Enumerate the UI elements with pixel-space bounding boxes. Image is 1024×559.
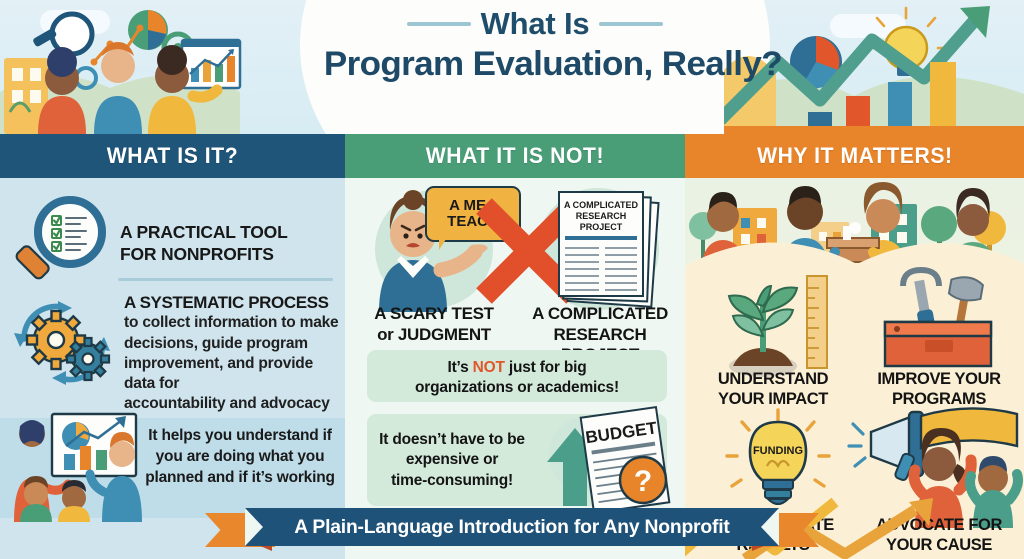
speech-bubble-tail [439,236,457,250]
systematic-process-heading: A SYSTEMATIC PROCESS [124,293,342,313]
box1-post: just for big [505,359,587,376]
scary-test-line1: A SCARY TEST [349,304,519,325]
systematic-body-line1: to collect information to make [124,313,342,333]
left-band-text: It helps you understand if you are doing… [140,426,340,489]
magnifier-checklist-icon [8,192,112,296]
presentation-board-icon [182,40,240,88]
box1-pre: It’s [447,359,472,376]
column-header-why-it-matters: WHY IT MATTERS! [685,134,1024,178]
understand-impact-line1: UNDERSTAND [691,370,855,390]
box1-highlight: NOT [473,359,505,376]
header-banner: What Is Program Evaluation, Really? [0,0,1024,134]
column-header-what-it-is-not: WHAT IT IS NOT! [345,134,685,178]
paper-title-line2: RESEARCH [576,211,627,221]
complicated-research-line1: A COMPLICATED [517,304,683,325]
understand-impact-line2: YOUR IMPACT [691,390,855,410]
budget-question-icon: BUDGET ? [535,406,675,514]
infographic-root: What Is Program Evaluation, Really? WHAT… [0,0,1024,559]
box2-line3: time-consuming! [367,471,537,491]
ribbon-band: A Plain-Language Introduction for Any No… [245,508,779,546]
caption-scary-test: A SCARY TEST or JUDGMENT [349,304,519,345]
bulb-label: FUNDING [753,445,803,457]
left-column-divider [118,278,333,281]
not-for-big-orgs-text: It’s NOT just for big organizations or a… [367,358,667,399]
box1-line2: organizations or academics! [367,378,667,398]
research-papers-icon: A COMPLICATED RESEARCH PROJECT [543,184,671,310]
title-line-1: What Is [481,8,590,39]
gears-cycle-icon [6,293,118,397]
caption-understand-impact: UNDERSTAND YOUR IMPACT [691,370,855,410]
gear-small [67,338,109,380]
box2-line1: It doesn’t have to be [367,430,537,450]
systematic-body-line2: decisions, guide program [124,334,342,354]
column-header-label: WHAT IS IT? [107,143,238,169]
header-left-illustration [0,0,320,134]
ribbon-text: A Plain-Language Introduction for Any No… [294,516,729,539]
column-header-label: WHY IT MATTERS! [757,143,953,169]
practical-tool-line1: A PRACTICAL TOOL [120,222,288,244]
header-title: What Is Program Evaluation, Really? [330,8,740,84]
improve-programs-line1: IMPROVE YOUR [857,370,1021,390]
title-rule-left [407,22,471,26]
left-item-practical-tool-text: A PRACTICAL TOOL FOR NONPROFITS [120,222,288,266]
bottom-ribbon: A Plain-Language Introduction for Any No… [0,500,1024,559]
band-line3: planned and if it’s working [140,468,340,489]
paper-title-line3: PROJECT [580,222,623,232]
not-expensive-text: It doesn’t have to be expensive or time-… [367,430,537,491]
systematic-process-body: to collect information to make decisions… [124,313,342,414]
systematic-body-line3: improvement, and provide data for [124,354,342,394]
column-header-what-is-it: WHAT IS IT? [0,134,345,178]
column-header-label: WHAT IT IS NOT! [426,143,604,169]
seedling-ruler-icon [711,262,841,378]
title-line-2: Program Evaluation, Really? [324,45,746,84]
band-line2: you are doing what you [140,447,340,468]
column-header-bars: WHAT IS IT? WHAT IT IS NOT! WHY IT MATTE… [0,134,1024,178]
toolbox-icon [867,262,1009,378]
left-item-systematic-process: A SYSTEMATIC PROCESS to collect informat… [6,293,342,414]
box1-line1: It’s NOT just for big [367,358,667,378]
title-rule-right [599,22,663,26]
practical-tool-line2: FOR NONPROFITS [120,244,288,266]
paper-title-line1: A COMPLICATED [564,200,638,210]
question-mark: ? [634,465,652,498]
systematic-body-line4: accountability and advocacy [124,394,342,414]
scary-test-line2: or JUDGMENT [349,325,519,346]
box2-line2: expensive or [367,450,537,470]
band-line1: It helps you understand if [140,426,340,447]
